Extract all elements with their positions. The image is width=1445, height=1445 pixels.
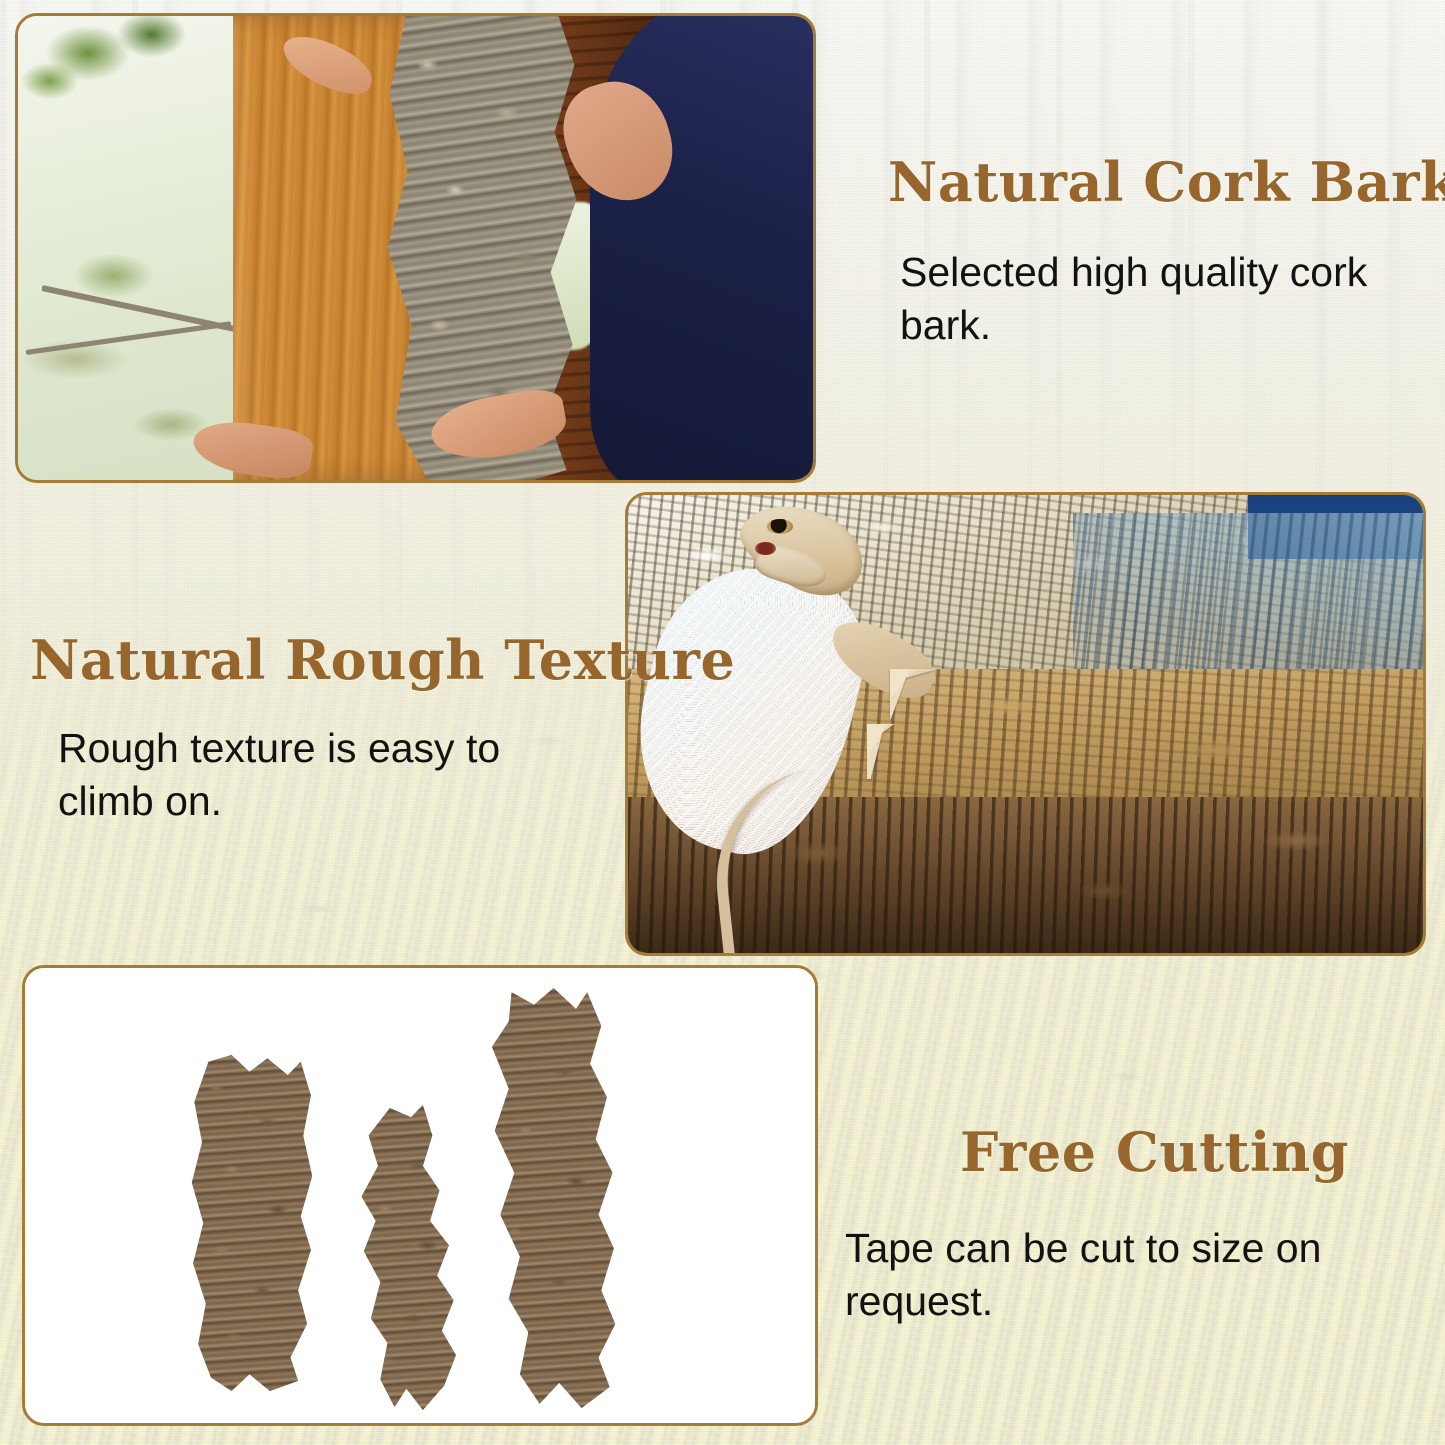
feature-body-natural-rough-texture: Rough texture is easy to climb on. <box>58 722 578 829</box>
product-infographic: Natural Cork Bark Selected high quality … <box>0 0 1445 1445</box>
photo-panel-lizard-on-bark <box>625 492 1426 956</box>
lizard-photo <box>628 495 1423 953</box>
feature-body-free-cutting: Tape can be cut to size on request. <box>845 1222 1405 1329</box>
lizard-ear <box>755 542 776 555</box>
lizard-hind-foot <box>867 724 962 779</box>
lizard-front-foot <box>890 669 977 719</box>
lizard-eye <box>767 519 792 535</box>
cork-bark-piece-left <box>188 1055 316 1391</box>
feature-heading-natural-cork-bark: Natural Cork Bark <box>888 150 1445 214</box>
feature-body-natural-cork-bark: Selected high quality cork bark. <box>900 246 1370 353</box>
bark-harvest-photo <box>18 16 813 480</box>
feature-heading-natural-rough-texture: Natural Rough Texture <box>30 628 735 692</box>
photo-panel-bark-harvest <box>15 13 816 483</box>
feature-heading-free-cutting: Free Cutting <box>960 1120 1349 1184</box>
